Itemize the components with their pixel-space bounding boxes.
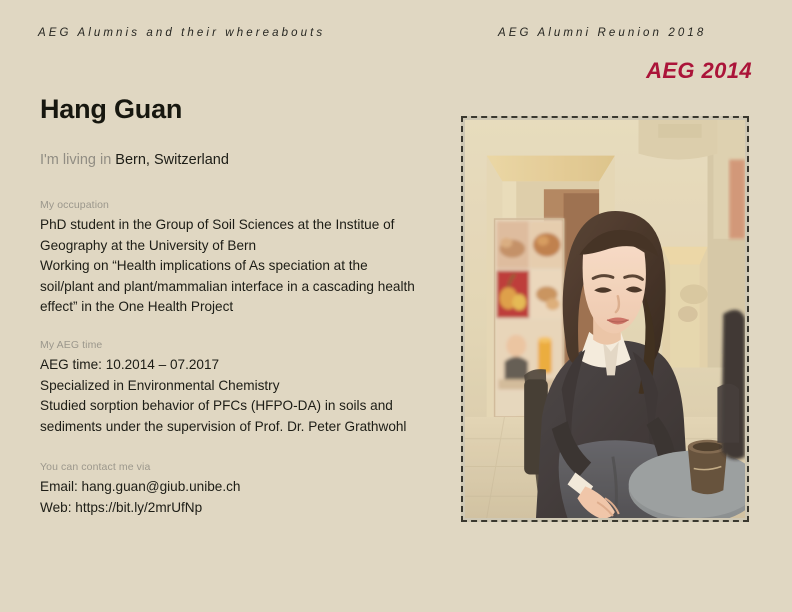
page-title: Hang Guan xyxy=(40,94,182,125)
profile-photo xyxy=(465,120,745,518)
running-header-right-text: AEG Alumni Reunion 2018 xyxy=(498,27,706,39)
aeg-time-line: sediments under the supervision of Prof.… xyxy=(40,417,440,438)
aeg-time-line: AEG time: 10.2014 – 07.2017 xyxy=(40,355,440,376)
section-contact-body: Email: hang.guan@giub.unibe.ch Web: http… xyxy=(40,477,440,518)
aeg-year-badge: AEG 2014 xyxy=(646,58,752,84)
slide-canvas: AEG Alumnis and their whereabouts AEG Al… xyxy=(0,0,792,612)
section-aeg-time: My AEG time AEG time: 10.2014 – 07.2017 … xyxy=(40,339,440,437)
occupation-line: effect” in the One Health Project xyxy=(40,297,440,318)
contact-email-line[interactable]: Email: hang.guan@giub.unibe.ch xyxy=(40,477,440,498)
aeg-time-line: Specialized in Environmental Chemistry xyxy=(40,376,440,397)
running-header-left-text: AEG Alumnis and their whereabouts xyxy=(38,27,325,39)
living-value: Bern, Switzerland xyxy=(115,152,229,168)
aeg-time-line: Studied sorption behavior of PFCs (HFPO-… xyxy=(40,396,440,417)
section-occupation-label: My occupation xyxy=(40,199,440,212)
section-occupation-body: PhD student in the Group of Soil Science… xyxy=(40,215,440,318)
profile-photo-image xyxy=(465,120,745,518)
occupation-line: Geography at the University of Bern xyxy=(40,236,440,257)
section-contact: You can contact me via Email: hang.guan@… xyxy=(40,461,440,518)
occupation-line: soil/plant and plant/mammalian interface… xyxy=(40,277,440,298)
living-label: I'm living in xyxy=(40,152,111,168)
contact-web-line[interactable]: Web: https://bit.ly/2mrUfNp xyxy=(40,498,440,519)
occupation-line: PhD student in the Group of Soil Science… xyxy=(40,215,440,236)
section-occupation: My occupation PhD student in the Group o… xyxy=(40,199,440,318)
section-aeg-time-body: AEG time: 10.2014 – 07.2017 Specialized … xyxy=(40,355,440,437)
profile-photo-frame xyxy=(461,116,749,522)
section-contact-label: You can contact me via xyxy=(40,461,440,474)
occupation-line: Working on “Health implications of As sp… xyxy=(40,256,440,277)
living-location-line: I'm living in Bern, Switzerland xyxy=(40,152,229,168)
running-header: AEG Alumnis and their whereabouts AEG Al… xyxy=(0,27,792,47)
section-aeg-time-label: My AEG time xyxy=(40,339,440,352)
